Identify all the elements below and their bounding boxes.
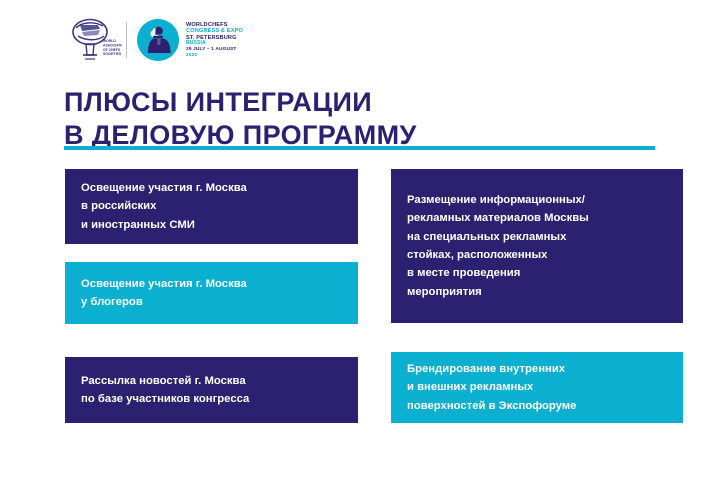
card-line: в российских (81, 197, 342, 215)
card-line: и иностранных СМИ (81, 216, 342, 234)
card-line: Рассылка новостей г. Москва (81, 372, 342, 390)
card-line: Освещение участия г. Москва (81, 179, 342, 197)
slide-canvas: WORLD ASSOCIATION OF CHEFS SOCIETIES (0, 0, 720, 480)
benefit-card-branding-text: Брендирование внутренних и внешних рекла… (407, 360, 667, 415)
congress-line-6: 2020 (186, 53, 243, 59)
card-line: по базе участников конгресса (81, 390, 342, 408)
svg-text:ASSOCIATION: ASSOCIATION (103, 43, 122, 47)
benefit-card-ad-stands-text: Размещение информационных/ рекламных мат… (407, 191, 667, 301)
benefit-card-blogger-coverage-text: Освещение участия г. Москва у блогеров (81, 275, 342, 312)
card-line: мероприятия (407, 283, 667, 301)
card-line: и внешних рекламных (407, 378, 667, 396)
benefit-card-branding: Брендирование внутренних и внешних рекла… (391, 352, 683, 423)
page-title: ПЛЮСЫ ИНТЕГРАЦИИ В ДЕЛОВУЮ ПРОГРАММУ (64, 86, 664, 152)
benefit-card-blogger-coverage: Освещение участия г. Москва у блогеров (65, 262, 358, 324)
svg-text:OF CHEFS: OF CHEFS (103, 48, 121, 52)
logo-divider (126, 22, 127, 58)
congress-line-1: WORLDCHEFS (186, 22, 243, 29)
svg-text:SOCIETIES: SOCIETIES (103, 52, 122, 56)
card-line: Размещение информационных/ (407, 191, 667, 209)
card-line: Освещение участия г. Москва (81, 275, 342, 293)
logo-bar: WORLD ASSOCIATION OF CHEFS SOCIETIES (64, 14, 243, 66)
benefit-card-media-coverage-text: Освещение участия г. Москва в российских… (81, 179, 342, 234)
title-divider-rule (64, 146, 655, 150)
card-line: стойках, расположенных (407, 246, 667, 264)
benefit-card-ad-stands: Размещение информационных/ рекламных мат… (391, 169, 683, 323)
congress-line-5: 29 JULY – 1 AUGUST (186, 47, 243, 53)
card-line: у блогеров (81, 293, 342, 311)
congress-logo: WORLDCHEFS CONGRESS & EXPO ST. PETERSBUR… (137, 19, 243, 61)
page-title-line-1: ПЛЮСЫ ИНТЕГРАЦИИ (64, 86, 664, 119)
benefit-card-newsletter-text: Рассылка новостей г. Москва по базе учас… (81, 372, 342, 409)
benefit-card-newsletter: Рассылка новостей г. Москва по базе учас… (65, 357, 358, 423)
congress-logo-text: WORLDCHEFS CONGRESS & EXPO ST. PETERSBUR… (186, 22, 243, 59)
card-line: в месте проведения (407, 264, 667, 282)
card-line: рекламных материалов Москвы (407, 209, 667, 227)
benefit-card-media-coverage: Освещение участия г. Москва в российских… (65, 169, 358, 244)
card-line: поверхностей в Экспофоруме (407, 397, 667, 415)
card-line: на специальных рекламных (407, 228, 667, 246)
congress-line-2: CONGRESS & EXPO (186, 28, 243, 35)
card-line: Брендирование внутренних (407, 360, 667, 378)
chef-silhouette-badge-icon (137, 19, 179, 61)
worldchefs-association-emblem-icon: WORLD ASSOCIATION OF CHEFS SOCIETIES (64, 15, 122, 65)
svg-text:WORLD: WORLD (103, 39, 116, 43)
